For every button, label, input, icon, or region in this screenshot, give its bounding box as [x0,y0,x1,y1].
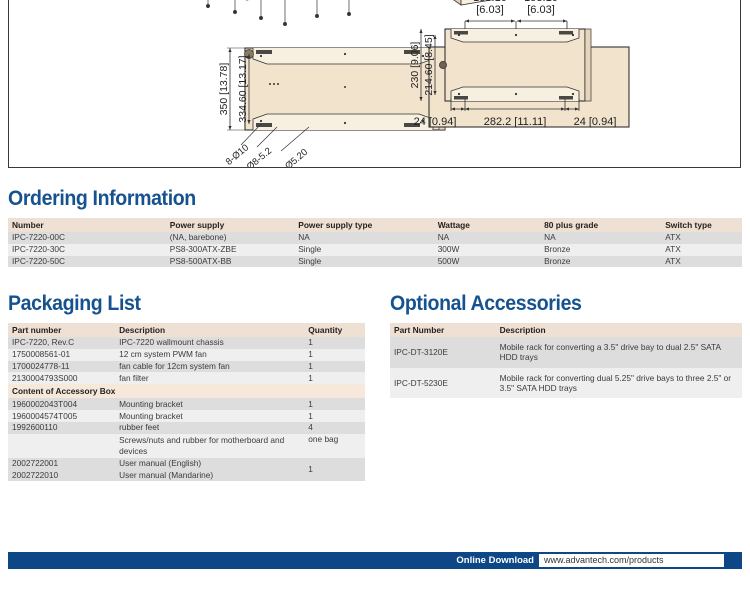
col-header-power-supply: Power supply [166,218,294,232]
table-row: 1960004574T005 Mounting bracket 1 [8,410,365,422]
cell-accessory-box-heading: Content of Accessory Box [8,384,365,398]
col-header-description: Description [115,323,304,337]
cell-wattage: 300W [434,244,540,256]
footer-bar: Online Download www.advantech.com/produc… [8,552,742,569]
table-row: IPC-7220-00C (NA, barebone) NA NA NA ATX [8,232,742,244]
cell-description: User manual (Mandarine) [115,470,304,482]
table-subheader-row: Content of Accessory Box [8,384,365,398]
table-row: 1750008561-01 12 cm system PWM fan 1 [8,349,365,361]
bottom-dim-0: 24 [0.94] [414,116,457,128]
table-row: IPC-7220-50C PS8-500ATX-BB Single 500W B… [8,256,742,268]
packaging-list-title: Packaging List [8,293,340,314]
col-header-part-number: Part number [8,323,115,337]
top-dim-3: [6.03] [527,4,555,16]
table-header-row: Part Number Description [390,323,742,337]
cell-part-number: 2002722010 [8,470,115,482]
isometric-rail-drawing [206,0,399,26]
optional-accessories-title: Optional Accessories [390,293,717,314]
col-header-part-number: Part Number [390,323,496,337]
cell-part-number: 1960002043T004 [8,398,115,410]
cell-wattage: 500W [434,256,540,268]
cell-number: IPC-7220-00C [8,232,166,244]
cell-part-number: IPC-7220, Rev.C [8,337,115,349]
table-row: IPC-DT-5230E Mobile rack for converting … [390,368,742,399]
cell-power-supply-type: NA [294,232,433,244]
col-header-switch-type: Switch type [661,218,742,232]
packaging-list-section: Packaging List Part number Description Q… [8,293,365,481]
cell-description: Screws/nuts and rubber for motherboard a… [115,434,304,458]
top-dim-1: [6.03] [476,4,504,16]
ordering-information-table: Number Power supply Power supply type Wa… [8,218,742,267]
cell-quantity: 1 [304,361,365,373]
table-header-row: Part number Description Quantity [8,323,365,337]
col-header-80-plus-grade: 80 plus grade [540,218,661,232]
table-row: 2002722001 User manual (English) 1 [8,458,365,470]
table-row: 1992600110 rubber feet 4 [8,422,365,434]
cell-quantity: 4 [304,422,365,434]
cell-part-number: 2130004793S000 [8,372,115,384]
ordering-information-title: Ordering Information [8,188,691,209]
online-download-label: Online Download [456,555,539,566]
table-row: IPC-DT-3120E Mobile rack for converting … [390,337,742,368]
cell-switch-type: ATX [661,256,742,268]
cell-description: Mobile rack for converting dual 5.25" dr… [496,368,742,399]
cell-description: Mobile rack for converting a 3.5" drive … [496,337,742,368]
cell-power-supply: PS8-300ATX-ZBE [166,244,294,256]
cell-quantity: 1 [304,398,365,410]
cell-power-supply-type: Single [294,244,433,256]
dim-334-label: 334.60 [13.17] [237,55,249,122]
cell-quantity: 1 [304,458,365,482]
cell-part-number: 1992600110 [8,422,115,434]
cell-80-plus-grade: NA [540,232,661,244]
cell-part-number [8,434,115,458]
cell-quantity: one bag [304,434,365,458]
cell-part-number: 1700024778-11 [8,361,115,373]
col-header-description: Description [496,323,742,337]
online-download-url[interactable]: www.advantech.com/products [539,554,724,567]
cell-part-number: 1750008561-01 [8,349,115,361]
left-dim-0: 230 [9.06] [409,42,421,89]
table-row: Screws/nuts and rubber for motherboard a… [8,434,365,458]
table-header-row: Number Power supply Power supply type Wa… [8,218,742,232]
cell-power-supply-type: Single [294,256,433,268]
cell-description: User manual (English) [115,458,304,470]
col-header-quantity: Quantity [304,323,365,337]
cell-description: 12 cm system PWM fan [115,349,304,361]
table-row: IPC-7220, Rev.C IPC-7220 wallmount chass… [8,337,365,349]
cell-quantity: 1 [304,372,365,384]
cell-part-number: 2002722001 [8,458,115,470]
cell-description: fan cable for 12cm system fan [115,361,304,373]
col-header-wattage: Wattage [434,218,540,232]
cell-description: Mounting bracket [115,398,304,410]
optional-accessories-table: Part Number Description IPC-DT-3120E Mob… [390,323,742,398]
dim-350-label: 350 [13.78] [218,63,230,116]
cell-wattage: NA [434,232,540,244]
cell-quantity: 1 [304,337,365,349]
cell-quantity: 1 [304,410,365,422]
table-row: 2130004793S000 fan filter 1 [8,372,365,384]
table-row: 1960002043T004 Mounting bracket 1 [8,398,365,410]
cell-part-number: IPC-DT-5230E [390,368,496,399]
cell-80-plus-grade: Bronze [540,256,661,268]
cell-description: Mounting bracket [115,410,304,422]
bottom-dim-1: 282.2 [11.11] [484,116,547,128]
cell-description: fan filter [115,372,304,384]
cell-quantity: 1 [304,349,365,361]
technical-drawing-frame: 350 [13.78] 334.60 [13.17] 8-Ø10 Ø8-5.2 … [8,0,741,168]
table-row: IPC-7220-30C PS8-300ATX-ZBE Single 300W … [8,244,742,256]
left-dim-1: 214.60 [8.45] [423,34,435,95]
cell-power-supply: PS8-500ATX-BB [166,256,294,268]
cell-switch-type: ATX [661,244,742,256]
cell-power-supply: (NA, barebone) [166,232,294,244]
cell-80-plus-grade: Bronze [540,244,661,256]
cell-number: IPC-7220-50C [8,256,166,268]
cell-number: IPC-7220-30C [8,244,166,256]
cell-switch-type: ATX [661,232,742,244]
cell-description: rubber feet [115,422,304,434]
cell-part-number: 1960004574T005 [8,410,115,422]
bottom-dim-2: 24 [0.94] [574,116,617,128]
cell-part-number: IPC-DT-3120E [390,337,496,368]
table-row: 1700024778-11 fan cable for 12cm system … [8,361,365,373]
cell-description: IPC-7220 wallmount chassis [115,337,304,349]
col-header-number: Number [8,218,166,232]
optional-accessories-section: Optional Accessories Part Number Descrip… [390,293,742,398]
col-header-power-supply-type: Power supply type [294,218,433,232]
ordering-information-section: Ordering Information Number Power supply… [8,188,742,267]
right-dimension-view: 153.10 [6.03] 153.10 [6.03] 230 [407,0,687,139]
packaging-list-table: Part number Description Quantity IPC-722… [8,323,365,481]
